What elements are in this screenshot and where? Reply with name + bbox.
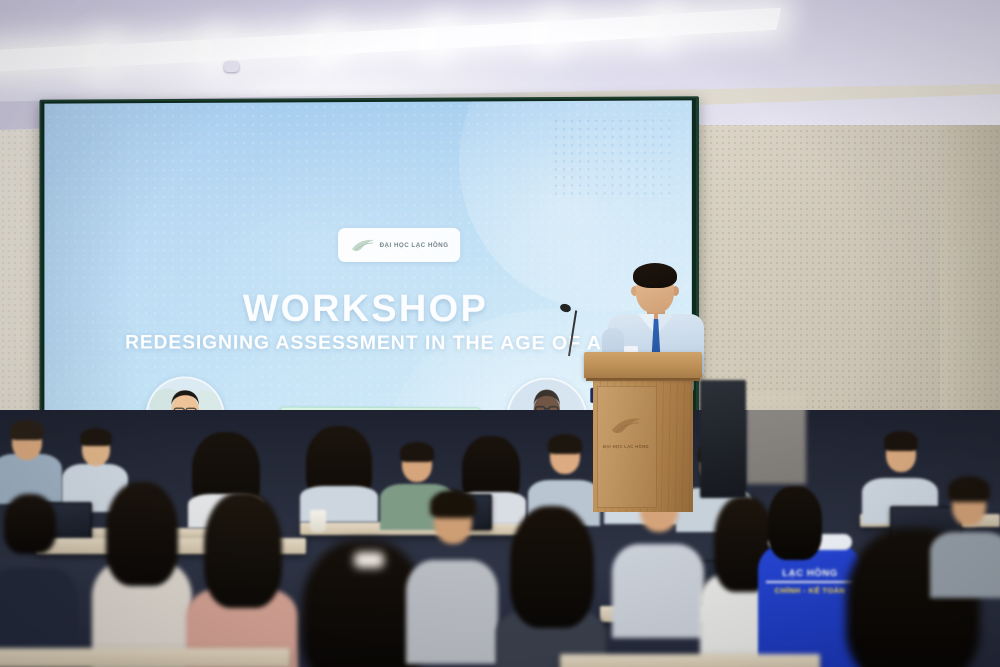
- audience-member: [0, 480, 78, 667]
- smoke-detector: [224, 61, 239, 72]
- lecture-hall-photo: ĐẠI HỌC LẠC HỒNG WORKSHOP REDESIGNING AS…: [0, 0, 1000, 667]
- desk-foreground: [560, 654, 820, 667]
- acoustic-perforation-texture-right: [940, 86, 1000, 466]
- side-panel: [746, 392, 806, 484]
- podium-top-surface: [584, 352, 702, 378]
- audience-member: [406, 480, 498, 660]
- podium-logo-text: ĐẠI HỌC LẠC HỒNG: [603, 444, 649, 449]
- desk-foreground: [0, 648, 290, 667]
- audience-area: LẠC HỒNG CHÍNH - KẾ TOÁN: [0, 410, 1000, 667]
- side-equipment-monitor: [700, 380, 746, 498]
- presenter-hair: [633, 263, 677, 288]
- audience-member: [496, 506, 606, 667]
- podium: ĐẠI HỌC LẠC HỒNG: [584, 352, 702, 512]
- lac-hong-bird-icon: [609, 415, 643, 437]
- podium-body: ĐẠI HỌC LẠC HỒNG: [593, 381, 693, 512]
- podium-logo: ĐẠI HỌC LẠC HỒNG: [603, 415, 649, 449]
- paper-cup: [310, 510, 326, 532]
- audience-member: [930, 470, 1000, 590]
- audience-member: [186, 492, 298, 667]
- audience-member: [92, 476, 192, 667]
- hair-clip: [354, 552, 384, 568]
- right-wall-column: [940, 86, 1000, 466]
- audience-member: [300, 426, 378, 518]
